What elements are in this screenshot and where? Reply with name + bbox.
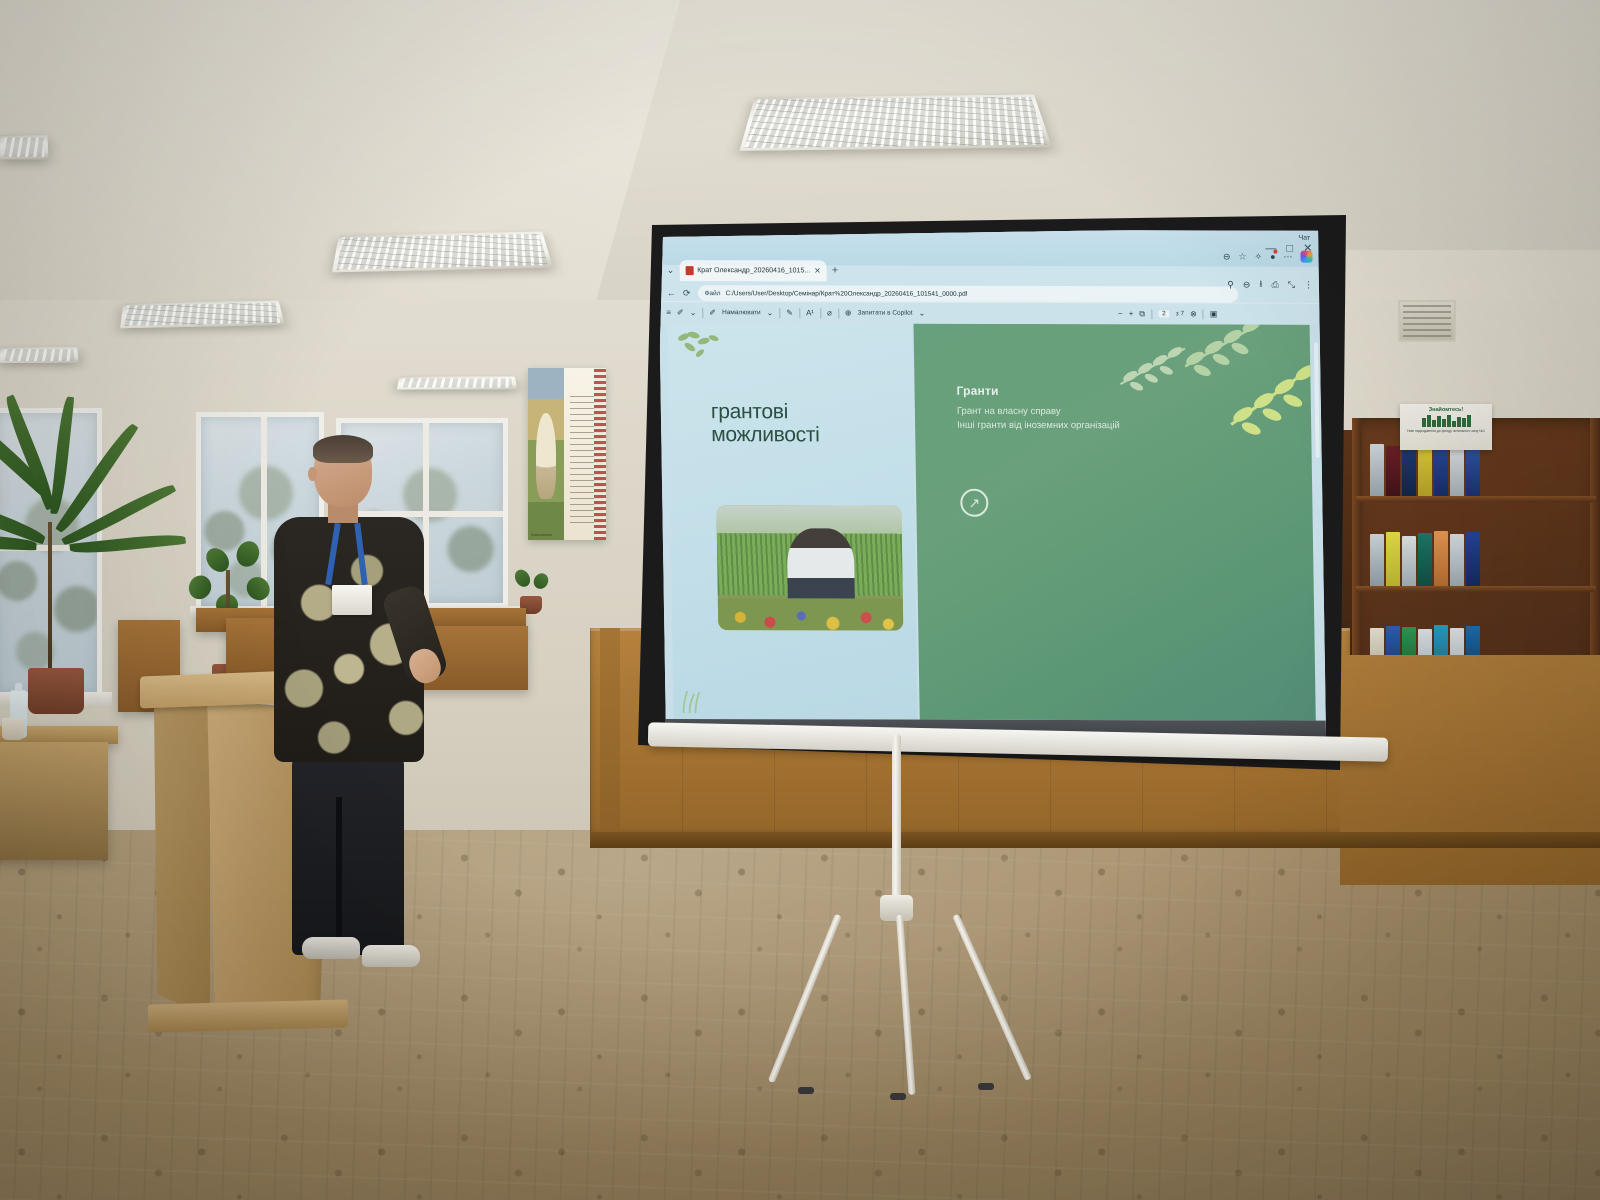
pdf-zoom-in-button[interactable]: + — [1129, 309, 1134, 318]
slide-title-line-2: можливості — [711, 424, 901, 447]
book-row — [1370, 530, 1480, 586]
favorite-star-icon[interactable]: ☆ — [1238, 251, 1246, 262]
slide-right: Гранти Грант на власну справу Інші грант… — [914, 324, 1316, 721]
slide-title-line-1: грантові — [711, 401, 901, 424]
pdf-zoom-out-button[interactable]: − — [1118, 309, 1123, 318]
ceiling-lamp — [739, 95, 1052, 151]
chat-label[interactable]: Чат — [1299, 235, 1311, 242]
projected-desktop: — □ ✕ Чат ⌄ Крат Олександр_20260416_1015… — [658, 229, 1326, 761]
page-total-label: з 7 — [1176, 310, 1185, 317]
wood-wall-edge — [600, 628, 620, 843]
slide-left: грантові можливості ↗ — [667, 323, 917, 720]
draw-chevron-icon[interactable]: ⌄ — [767, 308, 774, 317]
copilot-ask-icon[interactable]: ⊕ — [845, 308, 852, 317]
poster-painting — [528, 368, 564, 540]
highlight-icon[interactable]: ✎ — [786, 308, 793, 317]
shoe — [362, 945, 420, 967]
pdf-zoom-icon[interactable]: ⊖ — [1243, 279, 1251, 290]
address-bar[interactable]: Файл C:/Users/User/Desktop/Семінар/Крат%… — [697, 285, 1237, 302]
profile-avatar[interactable]: ● — [1270, 252, 1276, 262]
screen-tripod — [780, 735, 1010, 1095]
print-icon[interactable]: ⎙ — [1271, 279, 1278, 290]
draw-label[interactable]: Намалювати — [722, 309, 761, 316]
tab-list-chevron-icon[interactable]: ⌄ — [667, 265, 675, 276]
new-tab-button[interactable]: + — [832, 264, 839, 276]
leaf-decoration-icon — [674, 329, 735, 363]
desk-front-left — [0, 742, 108, 860]
shoe — [302, 937, 360, 959]
bookshelf — [1352, 418, 1600, 693]
name-badge — [332, 585, 372, 615]
file-scheme-label: Файл — [705, 290, 721, 297]
poster-embroidery-border — [594, 368, 606, 540]
search-icon[interactable]: ⚲ — [1227, 279, 1234, 290]
poster-books-graphic — [1400, 415, 1492, 427]
page-number-input[interactable]: 2 — [1158, 310, 1170, 317]
pdf-toolbar-right-icons: ⚲ ⊖ ⭳ ⎙ ⤡ ⋮ — [1227, 276, 1313, 292]
ceiling-lamp — [0, 347, 79, 363]
slide-right-arrow-icon: ↗ — [960, 489, 988, 517]
screen-surface: — □ ✕ Чат ⌄ Крат Олександр_20260416_1015… — [630, 215, 1346, 785]
save-icon[interactable]: ⭳ — [1259, 277, 1262, 293]
new-arrivals-poster: Знайомтесь! Нові надходження до фонду чи… — [1400, 404, 1492, 450]
edge-browser-window: — □ ✕ Чат ⌄ Крат Олександр_20260416_1015… — [658, 229, 1326, 761]
browser-toolbar-right: ⊖ ☆ ✧ ● ⋯ — [1223, 250, 1313, 262]
pdf-toolbar: ≡ ✐ ⌄ ✐ Намалювати ⌄ ✎ A¹ ⌀ — [659, 301, 1319, 325]
browser-tab[interactable]: Крат Олександр_20260416_1015... ✕ — [679, 260, 827, 281]
pdf-chevron-icon[interactable]: ⌄ — [690, 308, 697, 317]
text-style-icon[interactable]: A¹ — [806, 308, 814, 317]
fullscreen-icon[interactable]: ⤡ — [1288, 279, 1295, 290]
tab-close-icon[interactable]: ✕ — [814, 266, 821, 275]
ceiling-lamp — [397, 377, 517, 390]
slide-right-bullet-2: Інші гранти від іноземних організацій — [957, 420, 1120, 431]
slide-right-bullet-1: Грант на власну справу — [957, 406, 1061, 417]
pdf-page-area[interactable]: грантові можливості ↗ — [659, 323, 1325, 721]
slide-left-photo — [716, 505, 903, 630]
room-photo-scene: Вишиванка — [0, 0, 1600, 1200]
presenter — [270, 437, 440, 982]
fit-page-icon[interactable]: ⧉ — [1139, 309, 1145, 319]
poster-title: Знайомтесь! — [1400, 407, 1492, 413]
wall-poster-vyshyvanka: Вишиванка — [528, 368, 606, 540]
air-vent — [1398, 300, 1456, 342]
grass-decoration-icon — [677, 685, 717, 713]
ceiling-lamp — [0, 135, 49, 159]
pdf-menu-icon[interactable]: ≡ — [666, 308, 671, 317]
wood-wall-panel-right — [1340, 655, 1600, 885]
ceiling-lamp — [332, 232, 553, 273]
tab-title: Крат Олександр_20260416_1015... — [697, 267, 810, 274]
more-menu-icon[interactable]: ⋯ — [1283, 251, 1292, 262]
slide-right-heading: Гранти — [956, 384, 998, 398]
address-url: C:/Users/User/Desktop/Семінар/Крат%20Оле… — [725, 290, 967, 298]
copilot-ask-label[interactable]: Запитати в Copilot — [858, 310, 913, 317]
poster-subtitle: Нові надходження до фонду читального зал… — [1400, 429, 1492, 433]
cup — [2, 718, 24, 740]
slide-left-title: грантові можливості — [711, 401, 902, 447]
pdf-pen-icon[interactable]: ✐ — [677, 308, 684, 317]
pdf-scrollbar[interactable] — [1314, 343, 1320, 458]
zoom-out-icon[interactable]: ⊖ — [1223, 251, 1231, 262]
poster-caption: Вишиванка — [531, 532, 552, 537]
collections-icon[interactable]: ✧ — [1254, 251, 1262, 262]
page-layout-icon[interactable]: ▣ — [1210, 309, 1218, 318]
read-aloud-icon[interactable]: ⊗ — [1190, 309, 1197, 318]
copilot-chevron-icon[interactable]: ⌄ — [919, 309, 926, 318]
refresh-button[interactable]: ⟳ — [683, 288, 691, 299]
erase-icon[interactable]: ⌀ — [827, 308, 832, 317]
draw-icon[interactable]: ✐ — [709, 308, 716, 317]
leaf-branches-decoration-icon — [1089, 324, 1316, 437]
pdf-more-icon[interactable]: ⋮ — [1304, 279, 1313, 290]
copilot-icon[interactable] — [1300, 251, 1312, 263]
ceiling-lamp — [120, 301, 285, 329]
back-button[interactable]: ← — [667, 288, 676, 298]
pdf-favicon-icon — [685, 266, 693, 275]
